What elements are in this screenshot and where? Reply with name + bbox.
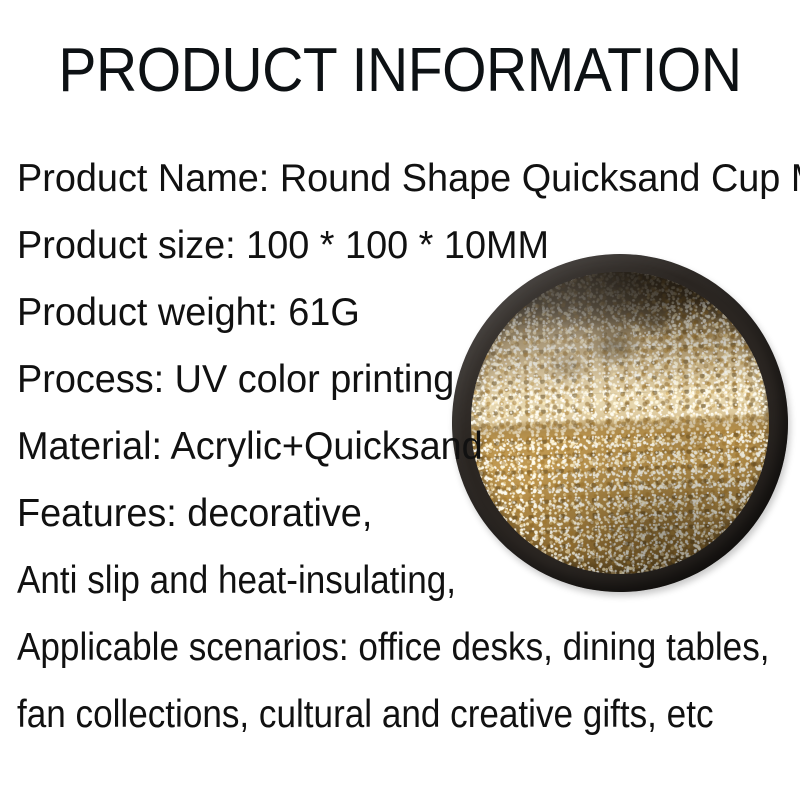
spec-line-product-name: Product Name: Round Shape Quicksand Cup …	[17, 145, 764, 212]
spec-line-process: Process: UV color printing	[17, 346, 764, 413]
spec-line-product-weight: Product weight: 61G	[17, 279, 764, 346]
spec-line-product-size: Product size: 100 * 100 * 10MM	[17, 212, 764, 279]
product-information-page: PRODUCT INFORMATION Product Name: Round …	[0, 0, 800, 800]
spec-line-scenarios-continued: fan collections, cultural and creative g…	[17, 681, 710, 748]
specification-list: Product Name: Round Shape Quicksand Cup …	[17, 145, 787, 748]
spec-line-material: Material: Acrylic+Quicksand	[17, 413, 764, 480]
spec-line-features: Features: decorative,	[17, 480, 764, 547]
spec-line-applicable-scenarios: Applicable scenarios: office desks, dini…	[17, 614, 710, 681]
page-title: PRODUCT INFORMATION	[32, 40, 768, 102]
spec-line-features-continued: Anti slip and heat-insulating,	[17, 547, 710, 614]
